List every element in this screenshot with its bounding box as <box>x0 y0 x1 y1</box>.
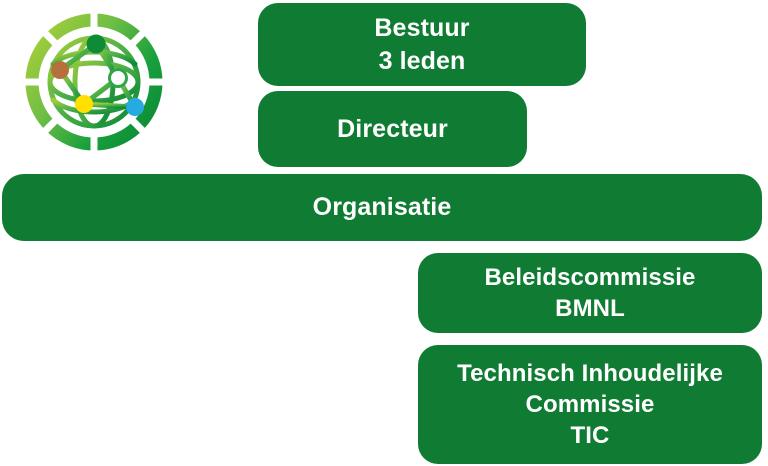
tic-label-line-2: Commissie <box>526 389 655 420</box>
beleidscommissie-label-line-1: Beleidscommissie <box>484 262 695 293</box>
beleidscommissie-label-line-2: BMNL <box>555 293 625 324</box>
node-bottom-yellow <box>75 95 93 113</box>
technisch-inhoudelijke-commissie-box[interactable]: Technisch Inhoudelijke Commissie TIC <box>418 345 762 464</box>
organization-chart: Bestuur 3 leden Directeur Organisatie Be… <box>0 0 768 466</box>
node-top-dark-green <box>87 35 106 54</box>
beleidscommissie-box[interactable]: Beleidscommissie BMNL <box>418 253 762 333</box>
organisatie-label: Organisatie <box>313 191 452 224</box>
bestuur-label-line-2: 3 leden <box>379 45 466 78</box>
organisatie-box[interactable]: Organisatie <box>2 174 762 241</box>
tic-label-line-3: TIC <box>571 420 610 451</box>
network-globe-logo <box>22 8 166 156</box>
directeur-label: Directeur <box>337 113 448 146</box>
node-left-brown <box>51 61 69 79</box>
node-center-white <box>110 70 127 87</box>
directeur-box[interactable]: Directeur <box>258 91 527 167</box>
tic-label-line-1: Technisch Inhoudelijke <box>457 358 723 389</box>
bestuur-label-line-1: Bestuur <box>374 12 469 45</box>
node-right-blue <box>126 98 144 116</box>
bestuur-box[interactable]: Bestuur 3 leden <box>258 3 586 86</box>
